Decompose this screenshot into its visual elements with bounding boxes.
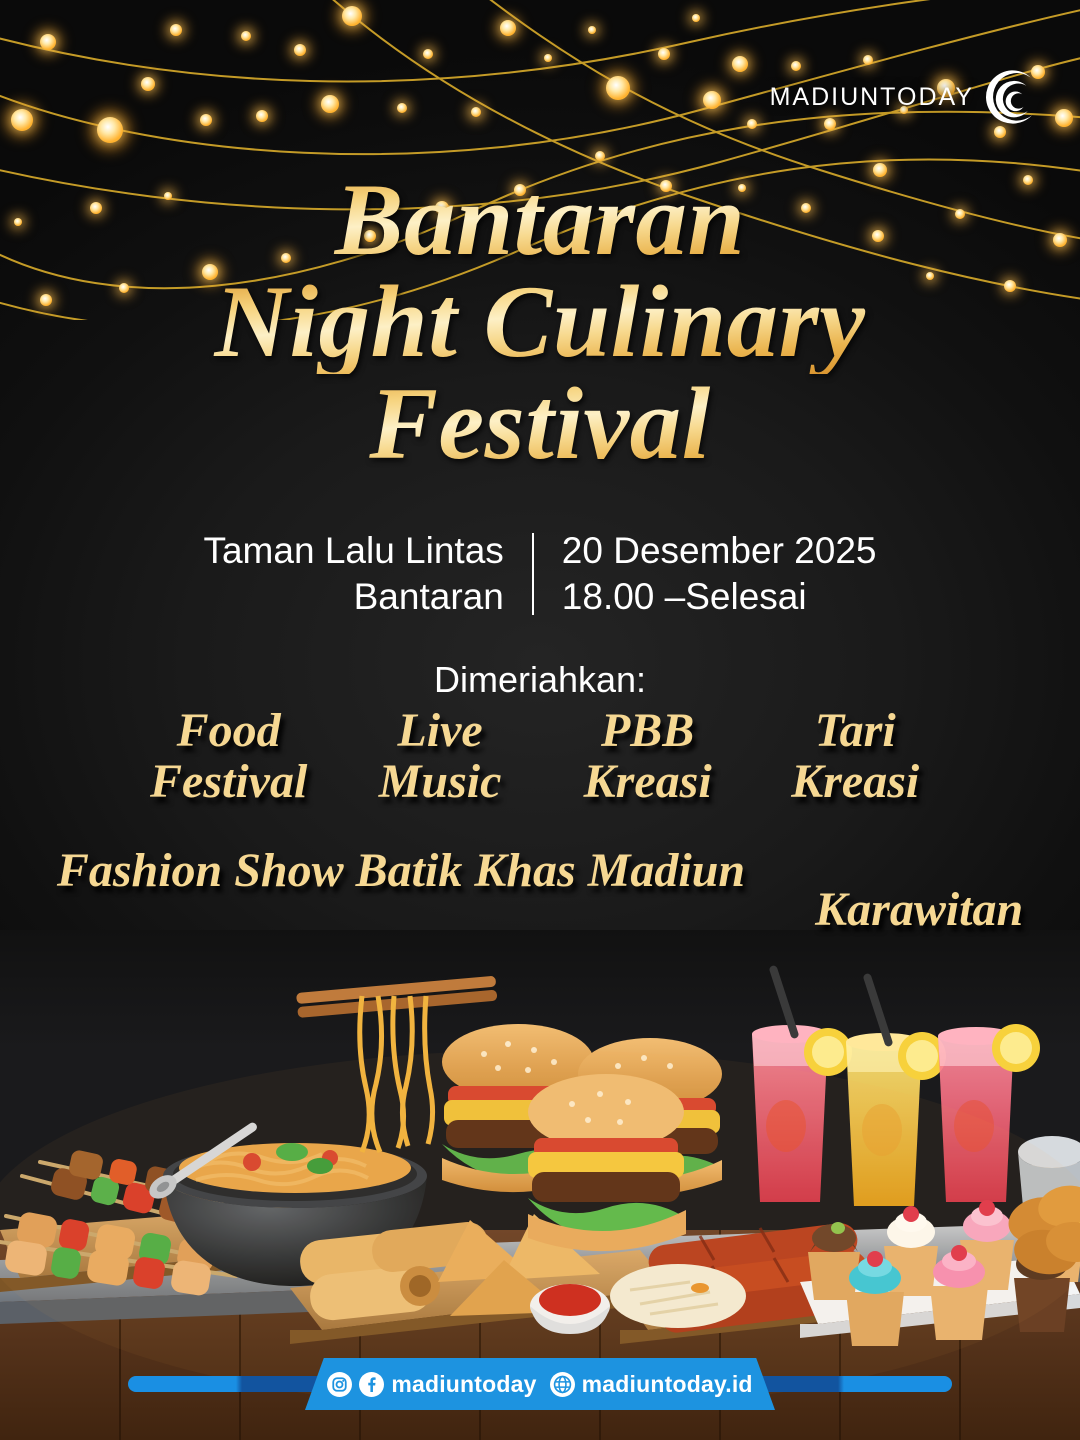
event-details: Taman Lalu Lintas Bantaran 20 Desember 2… bbox=[0, 528, 1080, 620]
lineup-item-food-festival: Food Festival bbox=[150, 706, 307, 808]
lineup-item-line2: Festival bbox=[150, 757, 307, 808]
website-text: madiuntoday.id bbox=[582, 1371, 753, 1398]
datetime-block: 20 Desember 2025 18.00 –Selesai bbox=[534, 528, 877, 620]
lineup-item-line2: Batik Khas Madiun bbox=[356, 844, 745, 897]
lineup-item-line2: Kreasi bbox=[573, 757, 723, 808]
lineup-item-line2: Music bbox=[365, 757, 515, 808]
title-line-2: Night Culinary bbox=[0, 272, 1080, 374]
lineup-row-1: Food Festival Live Music PBB Kreasi Tari… bbox=[0, 706, 1080, 808]
event-date: 20 Desember 2025 bbox=[562, 528, 877, 574]
venue-line-1: Taman Lalu Lintas bbox=[203, 528, 503, 574]
facebook-icon[interactable] bbox=[359, 1372, 384, 1397]
event-time: 18.00 –Selesai bbox=[562, 574, 877, 620]
venue-line-2: Bantaran bbox=[203, 574, 503, 620]
venue-block: Taman Lalu Lintas Bantaran bbox=[203, 528, 531, 620]
lineup-item-live-music: Live Music bbox=[365, 706, 515, 808]
website-link[interactable]: madiuntoday.id bbox=[550, 1371, 753, 1398]
lineup-item-line2: Kreasi bbox=[780, 757, 930, 808]
lineup-item-line1: Food bbox=[150, 706, 307, 757]
lineup-item-line1: Fashion Show bbox=[57, 844, 344, 897]
lineup-item-karawitan: Karawitan bbox=[815, 882, 1023, 937]
title-line-1: Bantaran bbox=[0, 170, 1080, 272]
lineup-heading: Dimeriahkan: bbox=[0, 659, 1080, 701]
title-line-3: Festival bbox=[0, 374, 1080, 476]
lineup-item-line1: Live bbox=[365, 706, 515, 757]
lineup-item-line1: Tari bbox=[780, 706, 930, 757]
page-title: Bantaran Night Culinary Festival bbox=[0, 170, 1080, 476]
footer-social-bar: madiuntoday madiuntoday.id bbox=[0, 1358, 1080, 1420]
social-accounts[interactable]: madiuntoday bbox=[327, 1371, 536, 1398]
lineup-item-line1: PBB bbox=[573, 706, 723, 757]
lineup-item-tari-kreasi: Tari Kreasi bbox=[780, 706, 930, 808]
social-handle-text: madiuntoday bbox=[391, 1371, 536, 1398]
lineup-row-2: Fashion Show Batik Khas Madiun Karawitan bbox=[0, 846, 1080, 937]
madiuntoday-logo: MADIUNTODAY bbox=[770, 62, 1046, 132]
globe-icon[interactable] bbox=[550, 1372, 575, 1397]
social-plate: madiuntoday madiuntoday.id bbox=[305, 1358, 775, 1410]
poster-root: MADIUNTODAY Bantaran Night Culinary Fest… bbox=[0, 0, 1080, 1440]
instagram-icon[interactable] bbox=[327, 1372, 352, 1397]
swirl-crescent-icon bbox=[976, 62, 1046, 132]
lineup-item-fashion-show: Fashion Show Batik Khas Madiun bbox=[57, 846, 745, 897]
lineup-list: Food Festival Live Music PBB Kreasi Tari… bbox=[0, 706, 1080, 937]
logo-wordmark: MADIUNTODAY bbox=[770, 83, 974, 112]
lineup-item-pbb-kreasi: PBB Kreasi bbox=[573, 706, 723, 808]
